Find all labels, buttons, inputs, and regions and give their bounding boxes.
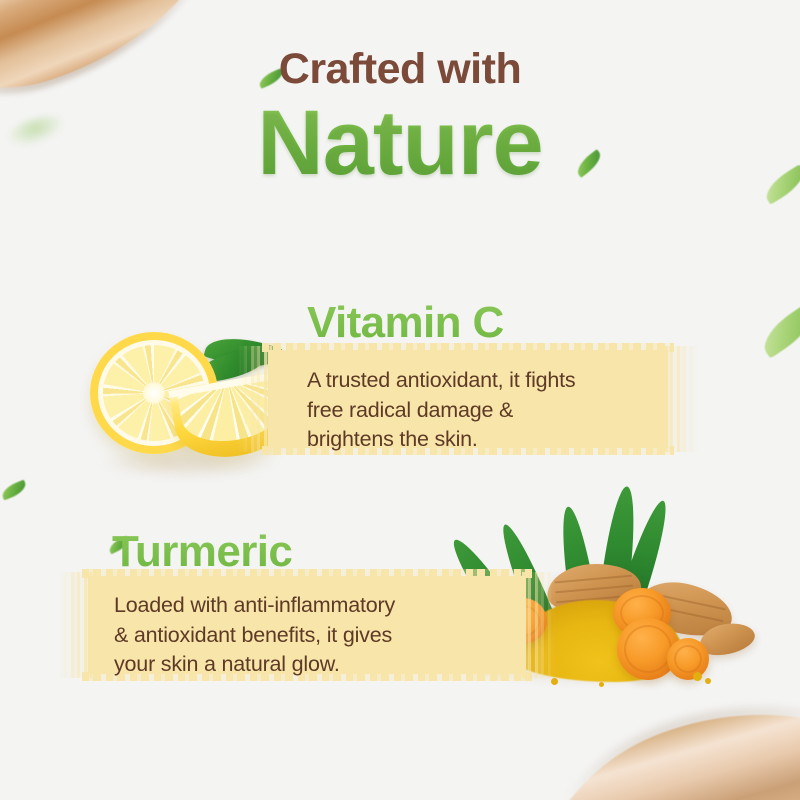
band-edge-top — [262, 343, 674, 352]
turmeric-root-line — [554, 575, 633, 584]
turmeric-slice-5 — [667, 638, 709, 680]
leaf-left-middle — [0, 480, 28, 501]
ingredient-title-vitamin-c: Vitamin C — [307, 298, 504, 348]
turmeric-powder-crumb — [705, 678, 711, 684]
poster-canvas: Crafted with Nature Vitamin C A trusted … — [0, 0, 800, 800]
turmeric-powder-crumb — [599, 682, 604, 687]
ingredient-description-turmeric: Loaded with anti-inflammatory & antioxid… — [114, 591, 514, 680]
band-edge-top — [82, 569, 532, 578]
turmeric-root-line — [555, 585, 634, 594]
leaf-right-middle — [756, 303, 800, 358]
headline-line-2: Nature — [0, 97, 800, 189]
ingredient-description-vitamin-c: A trusted antioxidant, it fights free ra… — [307, 366, 667, 455]
headline-line-1: Crafted with — [0, 48, 800, 91]
poster-headline: Crafted with Nature — [0, 48, 800, 189]
lemon-core — [143, 382, 165, 404]
turmeric-slice-ring — [624, 625, 672, 673]
turmeric-powder-crumb — [693, 672, 702, 681]
turmeric-powder-crumb — [551, 678, 558, 685]
turmeric-slice-ring — [674, 645, 702, 673]
